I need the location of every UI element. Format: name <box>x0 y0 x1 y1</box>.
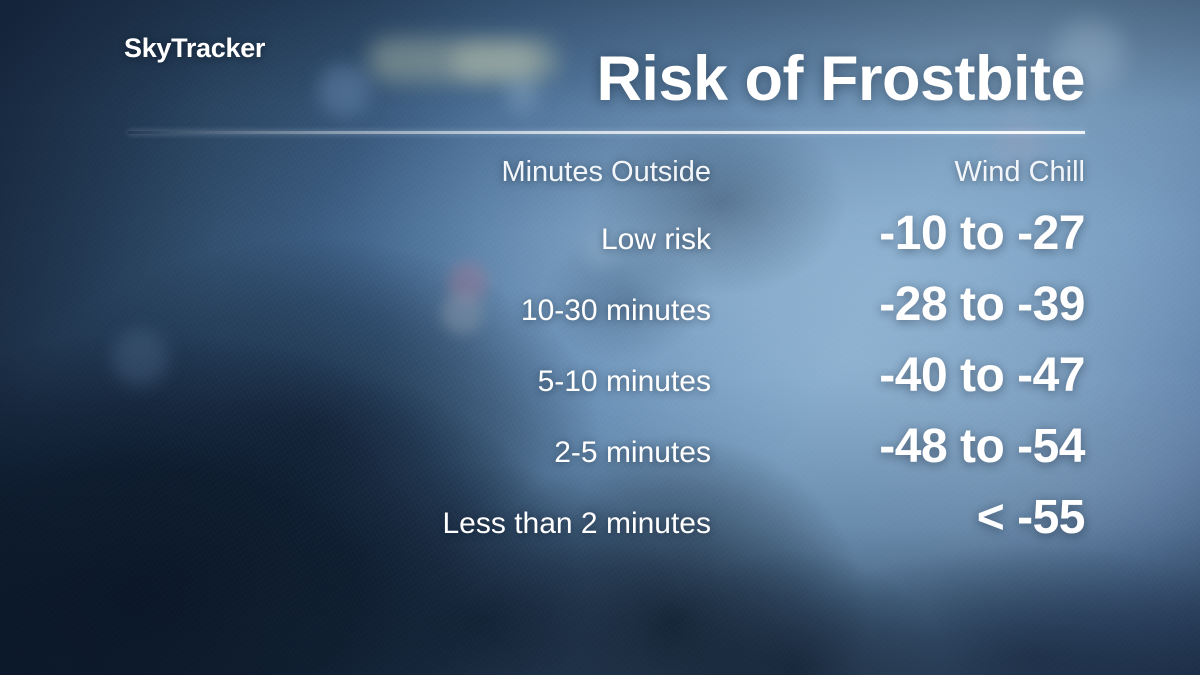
cell-exposure: 10-30 minutes <box>521 294 711 328</box>
title-divider-rule <box>128 131 1085 134</box>
table-row: Low risk -10 to -27 <box>0 206 1085 277</box>
page-title: Risk of Frostbite <box>596 48 1085 111</box>
frostbite-graphic: SkyTracker Risk of Frostbite Minutes Out… <box>0 0 1200 675</box>
cell-exposure: Low risk <box>601 223 711 257</box>
table-row: 2-5 minutes -48 to -54 <box>0 419 1085 490</box>
brand-logo-skytracker: SkyTracker <box>124 33 265 64</box>
cell-wind-chill: < -55 <box>711 490 1085 545</box>
table-row: 10-30 minutes -28 to -39 <box>0 277 1085 348</box>
table-header-row: Minutes Outside Wind Chill <box>0 156 1085 206</box>
table-row: Less than 2 minutes < -55 <box>0 490 1085 561</box>
cell-exposure: 2-5 minutes <box>554 436 711 470</box>
cell-wind-chill: -10 to -27 <box>711 206 1085 261</box>
cell-wind-chill: -28 to -39 <box>711 277 1085 332</box>
frostbite-risk-table: Minutes Outside Wind Chill Low risk -10 … <box>0 156 1085 561</box>
cell-wind-chill: -48 to -54 <box>711 419 1085 474</box>
column-header-wind-chill: Wind Chill <box>711 156 1085 189</box>
table-row: 5-10 minutes -40 to -47 <box>0 348 1085 419</box>
cell-exposure: Less than 2 minutes <box>443 507 712 541</box>
cell-wind-chill: -40 to -47 <box>711 348 1085 403</box>
column-header-minutes-outside: Minutes Outside <box>501 156 711 189</box>
cell-exposure: 5-10 minutes <box>538 365 711 399</box>
